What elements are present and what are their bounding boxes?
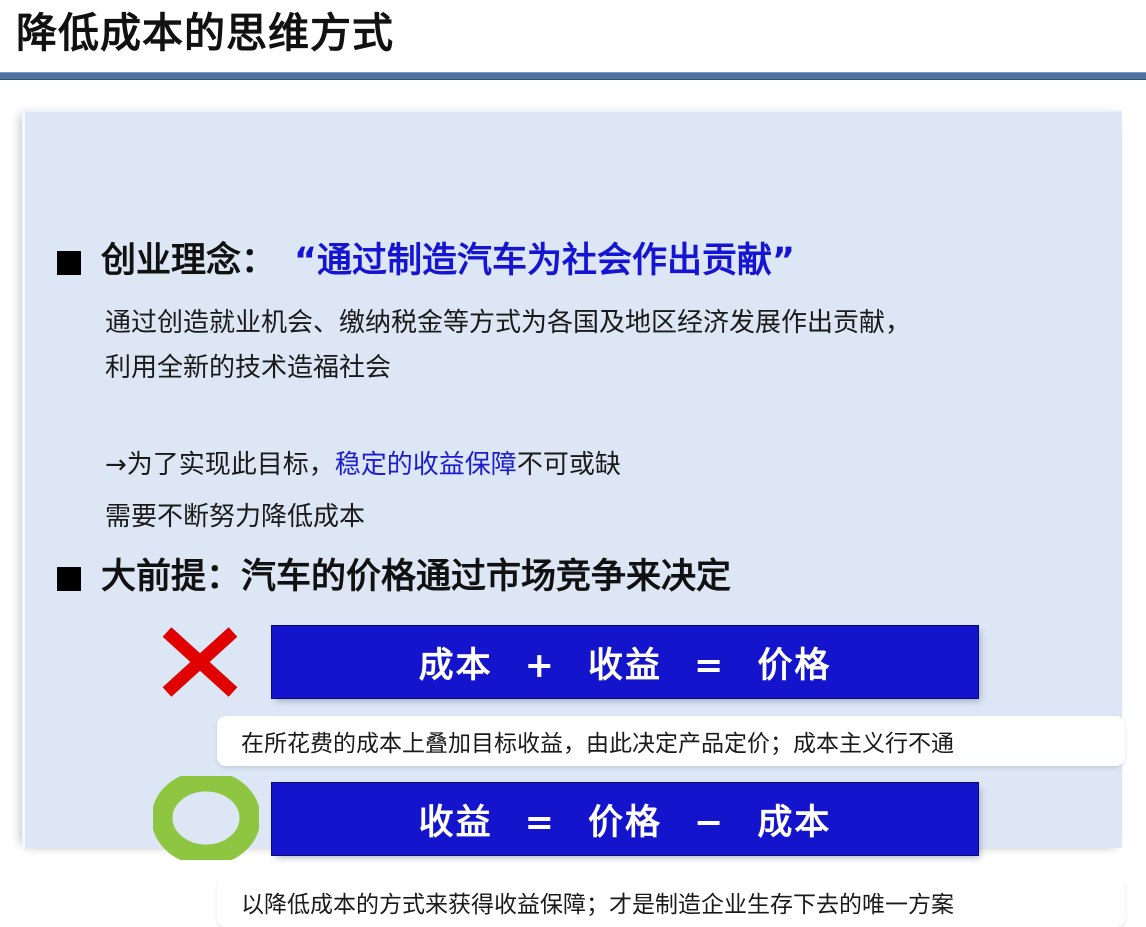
paragraph-line-3-suffix: 不可或缺 [517,450,621,480]
caption-text-1: 在所花费的成本上叠加目标收益，由此决定产品定价；成本主义行不通 [241,724,954,758]
formula-term-2-3: 成本 [757,803,831,843]
formula-operator-1-2: = [694,646,725,686]
formula-text-1: 成本+收益=价格 [413,637,838,688]
bullet-item-philosophy: 创业理念： “通过制造汽车为社会作出贡献” [57,240,795,282]
formula-box-profit-equals-price-minus-cost: 收益=价格−成本 [271,782,979,856]
formula-term-2-1: 收益 [419,803,493,843]
title-divider [0,72,1146,80]
green-circle-mark-icon [153,776,259,860]
paragraph-line-3-highlight: 稳定的收益保障 [335,450,517,480]
red-x-mark-icon [159,627,241,697]
formula-operator-2-2: − [694,803,725,843]
formula-text-2: 收益=价格−成本 [413,794,838,845]
formula-operator-2-1: = [525,803,556,843]
bullet-quote-philosophy: “通过制造汽车为社会作出贡献” [294,240,795,282]
page-title: 降低成本的思维方式 [16,6,394,61]
paragraph-line-4: 需要不断努力降低成本 [105,504,365,530]
formula-term-1-1: 成本 [419,646,493,686]
formula-operator-1-1: + [525,646,556,686]
bullet-heading-philosophy: 创业理念： [101,240,276,282]
square-bullet-icon [57,251,81,275]
caption-box-profit-equals-price-minus-cost: 以降低成本的方式来获得收益保障；才是制造企业生存下去的唯一方案 [217,877,1125,927]
bullet-heading-premise: 大前提：汽车的价格通过市场竞争来决定 [101,556,731,598]
content-panel: 创业理念： “通过制造汽车为社会作出贡献” 通过创造就业机会、缴纳税金等方式为各… [22,110,1122,848]
paragraph-line-1: 通过创造就业机会、缴纳税金等方式为各国及地区经济发展作出贡献， [105,310,911,336]
bullet-item-premise: 大前提：汽车的价格通过市场竞争来决定 [57,556,731,598]
square-bullet-icon [57,567,81,591]
formula-term-1-2: 收益 [588,646,662,686]
formula-term-2-2: 价格 [588,803,662,843]
caption-box-cost-plus-profit: 在所花费的成本上叠加目标收益，由此决定产品定价；成本主义行不通 [217,716,1125,766]
formula-box-cost-plus-profit: 成本+收益=价格 [271,625,979,699]
paragraph-line-2: 利用全新的技术造福社会 [105,355,391,381]
caption-text-2: 以降低成本的方式来获得收益保障；才是制造企业生存下去的唯一方案 [241,885,954,919]
paragraph-line-3: →为了实现此目标，稳定的收益保障不可或缺 [105,452,621,478]
formula-term-1-3: 价格 [757,646,831,686]
paragraph-line-3-prefix: →为了实现此目标， [105,450,335,480]
